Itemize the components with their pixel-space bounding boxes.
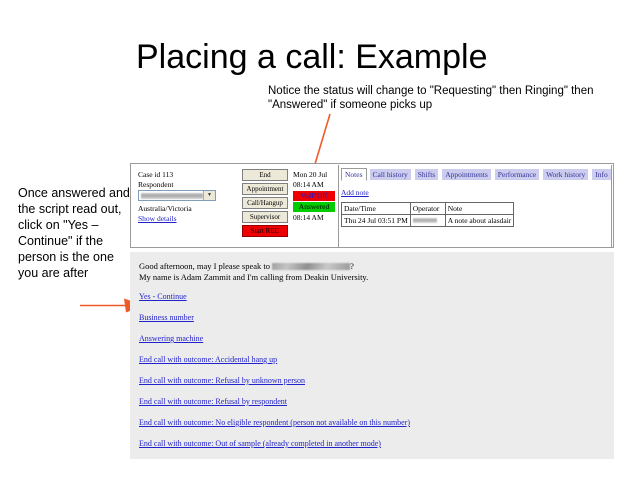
supervisor-button[interactable]: Supervisor bbox=[242, 211, 288, 223]
script-greeting-text: Good afternoon, may I please speak to bbox=[139, 261, 272, 271]
script-line-intro: My name is Adam Zammit and I'm calling f… bbox=[139, 272, 368, 283]
status-badge-voip: VoIP Off bbox=[293, 191, 335, 201]
show-details-link[interactable]: Show details bbox=[138, 214, 177, 223]
call-action-buttons: End Appointment Call/Hangup Supervisor S… bbox=[242, 169, 290, 239]
panel-divider bbox=[338, 165, 339, 248]
notes-panel: Add note Date/Time Operator Note Thu 24 … bbox=[341, 182, 609, 227]
tab-work-history[interactable]: Work history bbox=[542, 168, 589, 181]
link-answering-machine[interactable]: Answering machine bbox=[139, 334, 410, 344]
link-business-number[interactable]: Business number bbox=[139, 313, 410, 323]
link-refusal-unknown-person[interactable]: End call with outcome: Refusal by unknow… bbox=[139, 376, 410, 386]
cell-datetime: Thu 24 Jul 03:51 PM bbox=[342, 215, 411, 227]
tab-notes[interactable]: Notes bbox=[341, 168, 367, 181]
call-hangup-button[interactable]: Call/Hangup bbox=[242, 197, 288, 209]
status-date: Mon 20 Jul bbox=[293, 170, 337, 180]
tab-info[interactable]: Info bbox=[591, 168, 612, 181]
link-refusal-respondent[interactable]: End call with outcome: Refusal by respon… bbox=[139, 397, 410, 407]
link-no-eligible-respondent[interactable]: End call with outcome: No eligible respo… bbox=[139, 418, 410, 428]
link-out-of-sample[interactable]: End call with outcome: Out of sample (al… bbox=[139, 439, 410, 449]
table-row[interactable]: Thu 24 Jul 03:51 PM A note about alasdai… bbox=[342, 215, 514, 227]
column-header-note: Note bbox=[445, 203, 514, 215]
script-line-greeting: Good afternoon, may I please speak to ? bbox=[139, 261, 368, 272]
annotation-yes-continue: Once answered and the script read out, c… bbox=[18, 185, 136, 281]
status-time-bottom: 08:14 AM bbox=[293, 213, 337, 223]
end-button[interactable]: End bbox=[242, 169, 288, 181]
case-id-label: Case id 113 bbox=[138, 170, 173, 179]
call-control-panel: Case id 113 Respondent ▼ Australia/Victo… bbox=[130, 163, 614, 248]
redaction-bar bbox=[141, 193, 203, 199]
link-yes-continue[interactable]: Yes - Continue bbox=[139, 292, 410, 302]
script-panel: Good afternoon, may I please speak to ? … bbox=[130, 252, 614, 459]
script-action-links: Yes - Continue Business number Answering… bbox=[139, 292, 410, 460]
respondent-label: Respondent bbox=[138, 180, 173, 189]
redaction-bar bbox=[272, 263, 350, 270]
column-header-datetime: Date/Time bbox=[342, 203, 411, 215]
redaction-bar bbox=[413, 218, 437, 223]
appointment-button[interactable]: Appointment bbox=[242, 183, 288, 195]
page-title: Placing a call: Example bbox=[136, 36, 488, 78]
tab-bar: Notes Call history Shifts Appointments P… bbox=[341, 168, 614, 181]
tab-performance[interactable]: Performance bbox=[494, 168, 540, 181]
status-badge-call: Answered bbox=[293, 202, 335, 212]
tab-call-history[interactable]: Call history bbox=[369, 168, 412, 181]
add-note-link[interactable]: Add note bbox=[341, 188, 369, 197]
column-header-operator: Operator bbox=[410, 203, 445, 215]
cell-note: A note about alasdair bbox=[445, 215, 514, 227]
table-header-row: Date/Time Operator Note bbox=[342, 203, 514, 215]
locale-label: Australia/Victoria bbox=[138, 204, 192, 213]
respondent-select[interactable]: ▼ bbox=[138, 190, 216, 201]
annotation-status-change: Notice the status will change to "Reques… bbox=[268, 84, 608, 112]
script-greeting-suffix: ? bbox=[350, 261, 354, 271]
tab-shifts[interactable]: Shifts bbox=[414, 168, 440, 181]
start-rec-button[interactable]: Start REC bbox=[242, 225, 288, 237]
chevron-down-icon[interactable]: ▼ bbox=[203, 191, 215, 200]
embedded-app-screenshot: Case id 113 Respondent ▼ Australia/Victo… bbox=[130, 163, 614, 459]
cell-operator bbox=[410, 215, 445, 227]
notes-table: Date/Time Operator Note Thu 24 Jul 03:51… bbox=[341, 202, 514, 227]
script-text-block: Good afternoon, may I please speak to ? … bbox=[139, 261, 368, 283]
link-accidental-hangup[interactable]: End call with outcome: Accidental hang u… bbox=[139, 355, 410, 365]
tab-appointments[interactable]: Appointments bbox=[441, 168, 492, 181]
status-time-top: 08:14 AM bbox=[293, 180, 337, 190]
panel-right-edge bbox=[611, 165, 612, 248]
call-status-column: Mon 20 Jul 08:14 AM VoIP Off Answered 08… bbox=[293, 170, 337, 223]
